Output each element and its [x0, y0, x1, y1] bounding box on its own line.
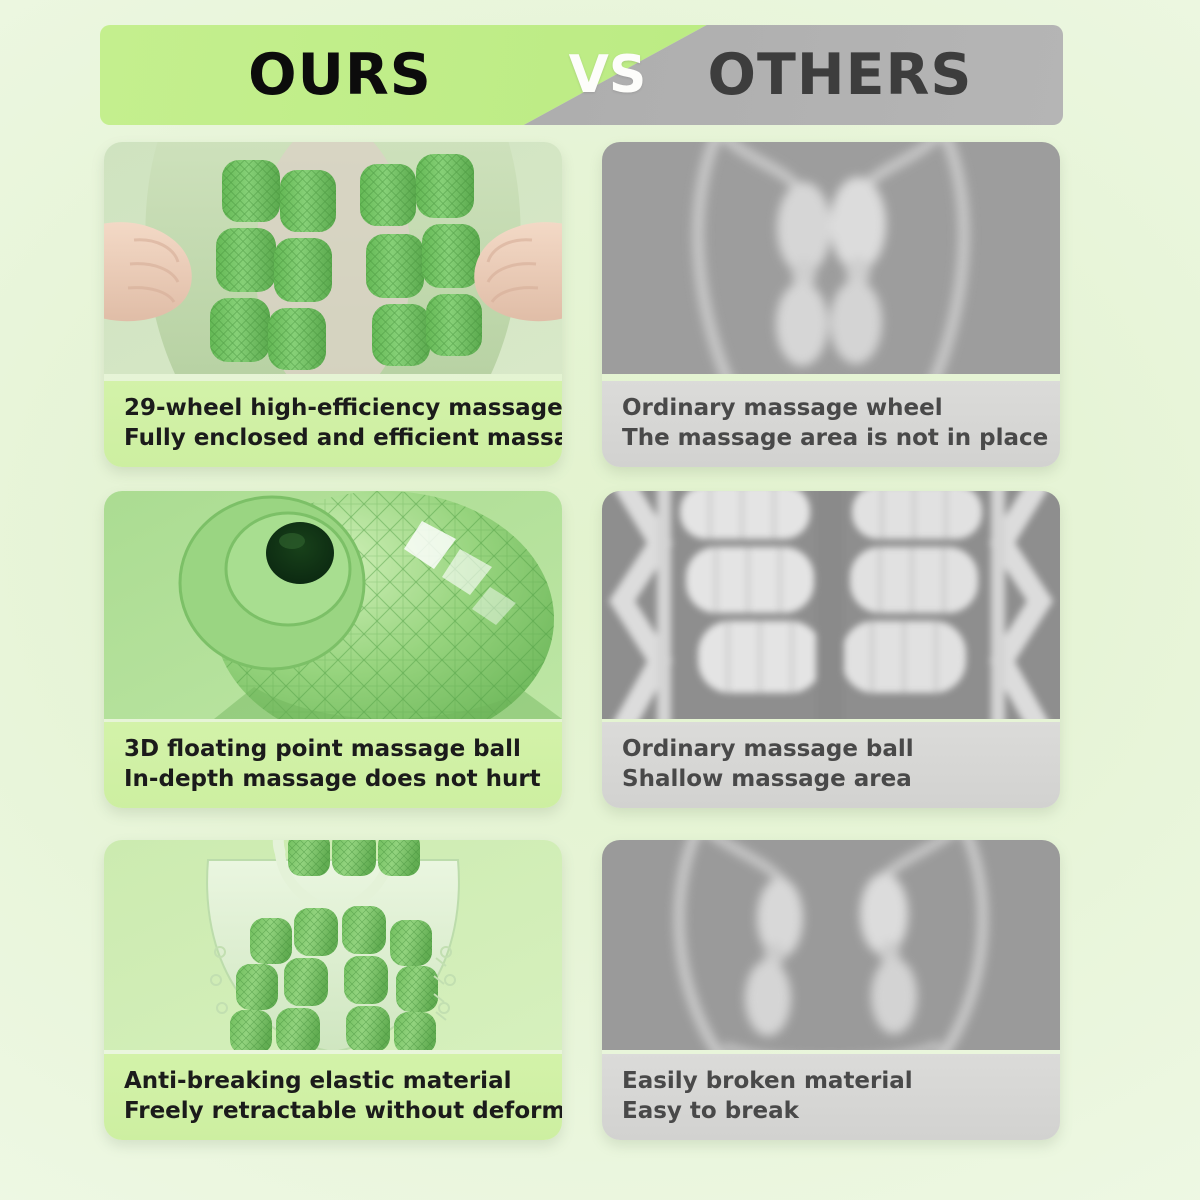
others-caption-row2-line2: Shallow massage area: [622, 765, 1040, 794]
ours-card-row1: 29-wheel high-efficiency massager Fully …: [104, 142, 562, 467]
others-caption-row2: Ordinary massage ball Shallow massage ar…: [602, 722, 1060, 808]
ours-card-row3: Anti-breaking elastic material Freely re…: [104, 840, 562, 1140]
others-card-row2: Ordinary massage ball Shallow massage ar…: [602, 491, 1060, 808]
ours-caption-row1-line2: Fully enclosed and efficient massage: [124, 424, 542, 453]
others-caption-row3: Easily broken material Easy to break: [602, 1054, 1060, 1140]
others-caption-row3-line1: Easily broken material: [622, 1067, 1040, 1096]
others-photo-row2: [602, 491, 1060, 719]
others-photo-row1: [602, 142, 1060, 374]
ours-caption-row1-line1: 29-wheel high-efficiency massager: [124, 394, 542, 423]
ours-caption-row3: Anti-breaking elastic material Freely re…: [104, 1054, 562, 1140]
ours-caption-row1: 29-wheel high-efficiency massager Fully …: [104, 381, 562, 467]
others-card-row3: Easily broken material Easy to break: [602, 840, 1060, 1140]
others-caption-row1-line1: Ordinary massage wheel: [622, 394, 1040, 423]
ours-caption-row3-line2: Freely retractable without deformation: [124, 1097, 542, 1126]
ours-card-row2: 3D floating point massage ball In-depth …: [104, 491, 562, 808]
others-card-row1: Ordinary massage wheel The massage area …: [602, 142, 1060, 467]
others-caption-row1: Ordinary massage wheel The massage area …: [602, 381, 1060, 467]
ours-caption-row3-line1: Anti-breaking elastic material: [124, 1067, 542, 1096]
others-caption-row3-line2: Easy to break: [622, 1097, 1040, 1126]
others-caption-row2-line1: Ordinary massage ball: [622, 735, 1040, 764]
ours-caption-row2: 3D floating point massage ball In-depth …: [104, 722, 562, 808]
ours-photo-row1: [104, 142, 562, 374]
ours-caption-row2-line1: 3D floating point massage ball: [124, 735, 542, 764]
others-photo-row3: [602, 840, 1060, 1050]
ours-photo-row3: [104, 840, 562, 1050]
ours-photo-row2: [104, 491, 562, 719]
comparison-grid: 29-wheel high-efficiency massager Fully …: [0, 0, 1200, 1200]
ours-caption-row2-line2: In-depth massage does not hurt: [124, 765, 542, 794]
others-caption-row1-line2: The massage area is not in place: [622, 424, 1040, 453]
